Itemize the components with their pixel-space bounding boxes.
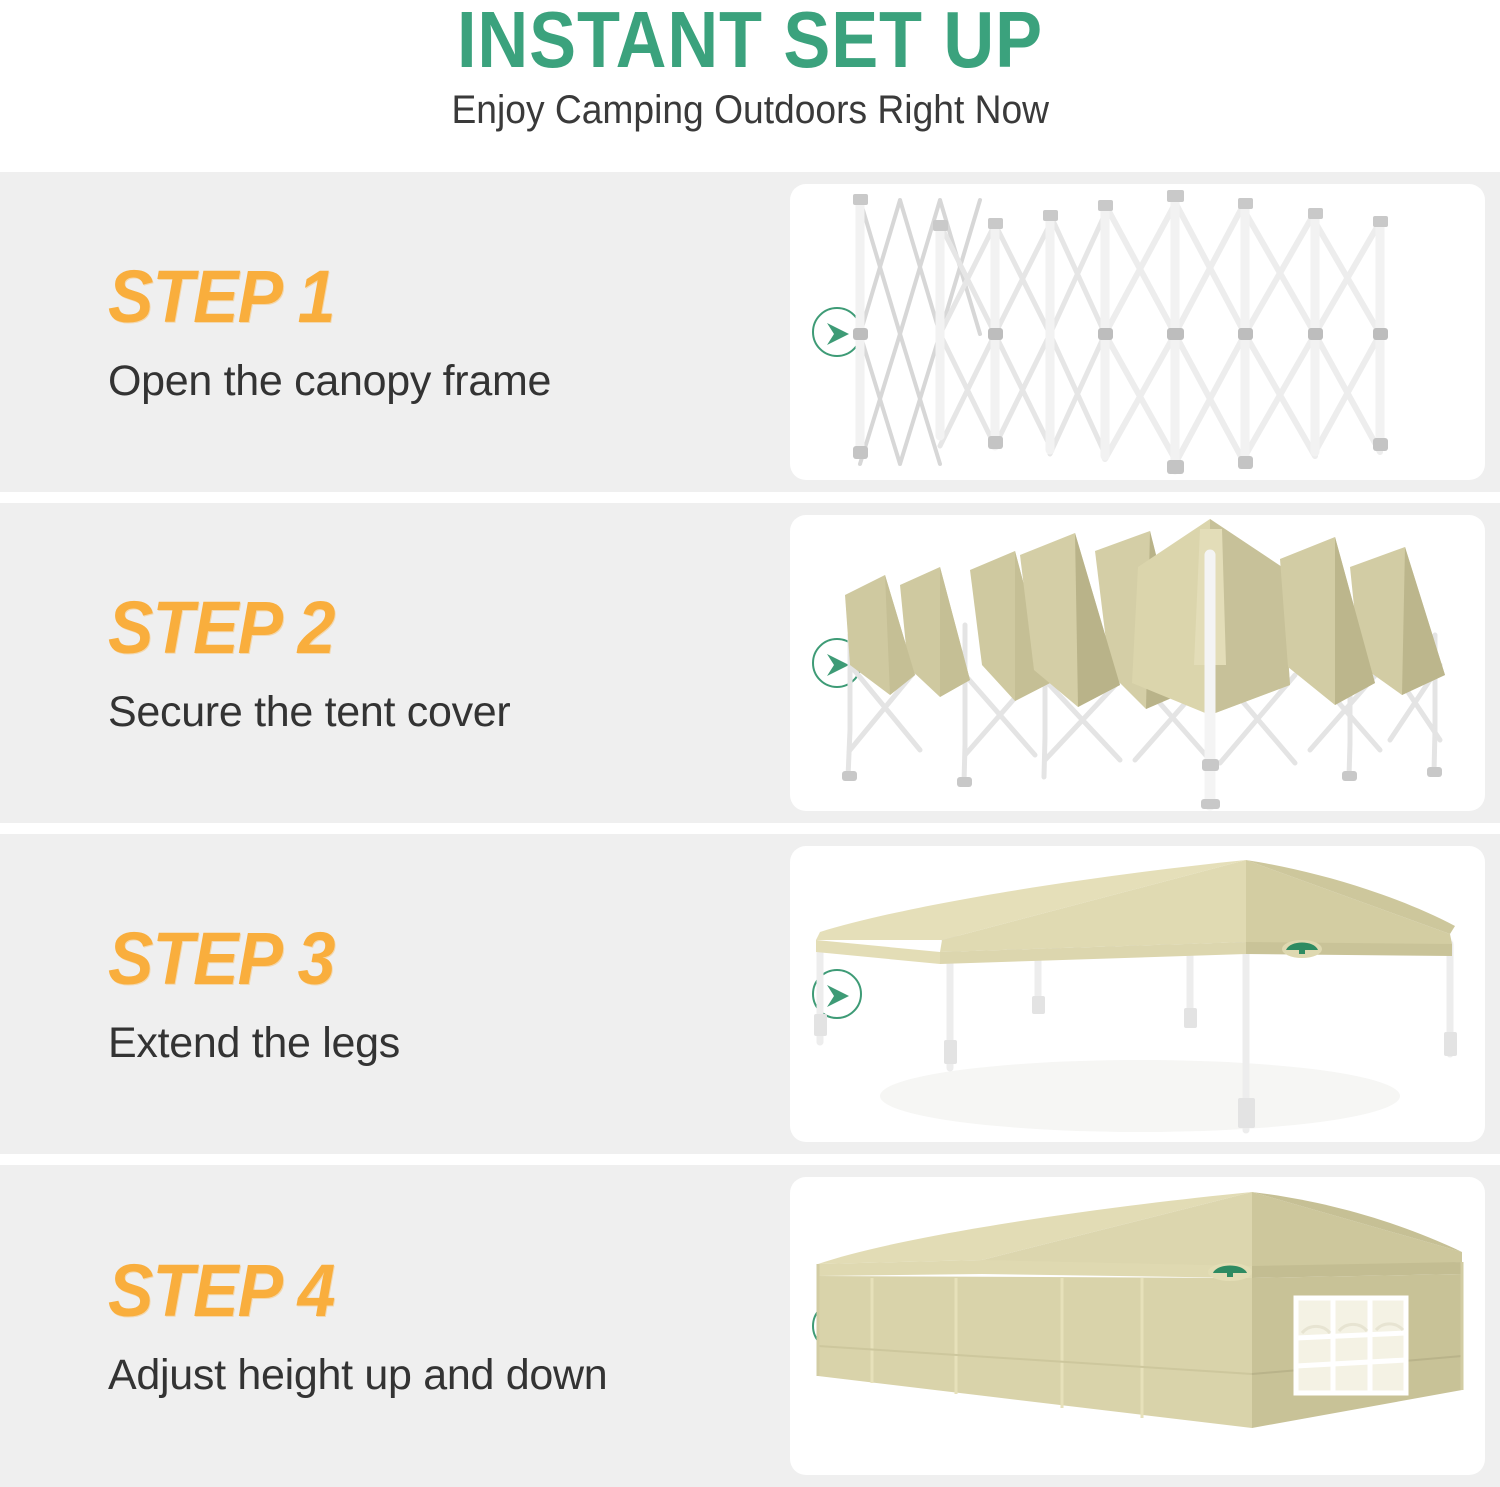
step-row-3: STEP 3 Extend the legs: [0, 834, 1500, 1154]
step-1-text-block: STEP 1 Open the canopy frame: [0, 172, 790, 492]
brand-logo-icon: [1282, 940, 1322, 958]
step-2-text-block: STEP 2 Secure the tent cover: [0, 503, 790, 823]
step-row-1: STEP 1 Open the canopy frame: [0, 172, 1500, 492]
step-4-text-block: STEP 4 Adjust height up and down: [0, 1165, 790, 1487]
brand-logo-icon: [1208, 1263, 1252, 1281]
canopy-with-sidewalls-illustration: [790, 1177, 1485, 1475]
step-3-description: Extend the legs: [108, 1018, 790, 1068]
tent-cover-illustration: [790, 515, 1485, 811]
step-2-description: Secure the tent cover: [108, 687, 790, 737]
step-2-kicker: STEP 2: [108, 589, 735, 667]
header: INSTANT SET UP Enjoy Camping Outdoors Ri…: [0, 0, 1500, 172]
step-4-image-card: [790, 1177, 1485, 1475]
step-4-kicker: STEP 4: [108, 1252, 735, 1330]
erected-canopy-illustration: [790, 846, 1485, 1142]
page-subtitle: Enjoy Camping Outdoors Right Now: [451, 86, 1049, 134]
step-4-description: Adjust height up and down: [108, 1350, 790, 1400]
step-3-image-card: [790, 846, 1485, 1142]
step-1-description: Open the canopy frame: [108, 356, 790, 406]
step-1-kicker: STEP 1: [108, 258, 735, 336]
step-row-4: STEP 4 Adjust height up and down: [0, 1165, 1500, 1487]
sidewall-window-icon: [1296, 1298, 1406, 1393]
canopy-frame-illustration: [790, 184, 1485, 480]
step-row-2: STEP 2 Secure the tent cover: [0, 503, 1500, 823]
step-2-image-card: [790, 515, 1485, 811]
instant-setup-infographic: INSTANT SET UP Enjoy Camping Outdoors Ri…: [0, 0, 1500, 1487]
page-title: INSTANT SET UP: [457, 0, 1043, 84]
step-3-kicker: STEP 3: [108, 920, 735, 998]
step-1-image-card: [790, 184, 1485, 480]
step-3-text-block: STEP 3 Extend the legs: [0, 834, 790, 1154]
